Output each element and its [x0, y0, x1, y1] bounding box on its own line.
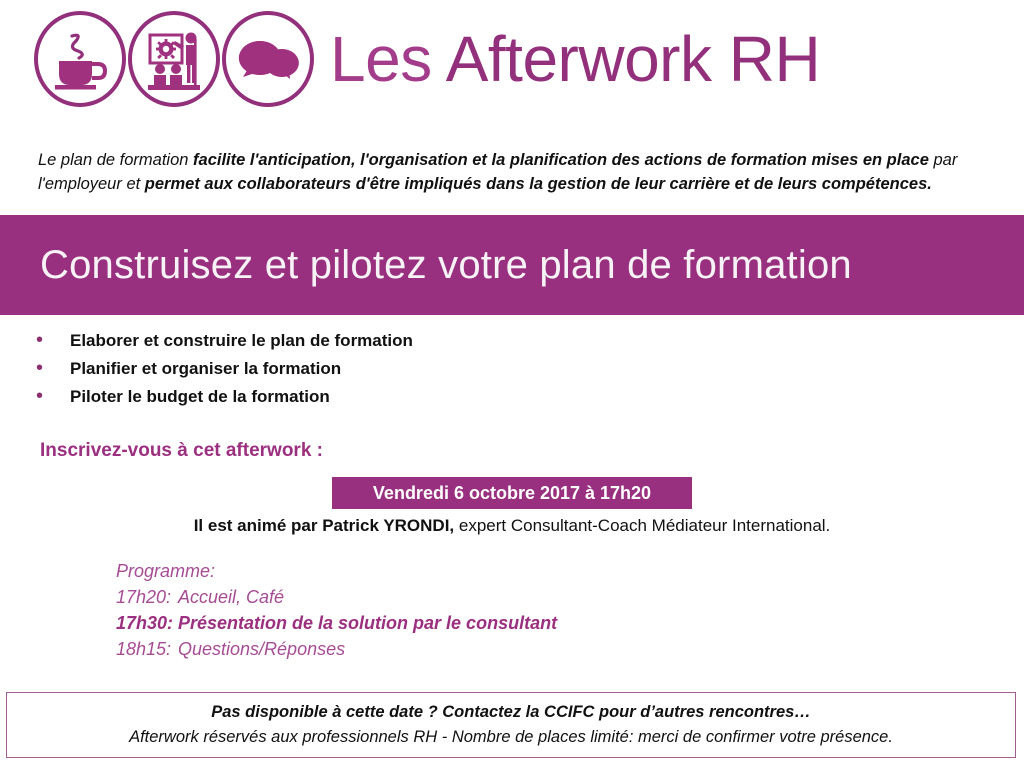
- programme-row: 18h15: Questions/Réponses: [116, 636, 557, 662]
- programme-row: 17h20: Accueil, Café: [116, 584, 557, 610]
- footer-note-line-2: Afterwork réservés aux professionnels RH…: [129, 728, 893, 747]
- intro-text-part1: Le plan de formation: [38, 151, 193, 169]
- speaker-name: Il est animé par Patrick YRONDI,: [194, 516, 454, 535]
- headline-banner: Construisez et pilotez votre plan de for…: [0, 215, 1024, 315]
- intro-text-bold2: permet aux collaborateurs d'être impliqu…: [145, 175, 932, 193]
- intro-paragraph: Le plan de formation facilite l'anticipa…: [38, 148, 1000, 197]
- signup-heading: Inscrivez-vous à cet afterwork :: [40, 440, 323, 462]
- programme-row-time: 17h20:: [116, 584, 178, 610]
- page-header: Les Afterwork RH: [0, 0, 1024, 118]
- programme-block: Programme: 17h20: Accueil, Café 17h30: P…: [116, 558, 557, 662]
- headline-banner-title: Construisez et pilotez votre plan de for…: [40, 243, 852, 288]
- programme-row-time: 18h15:: [116, 636, 178, 662]
- intro-text-bold1: facilite l'anticipation, l'organisation …: [193, 151, 929, 169]
- footer-note-box: Pas disponible à cette date ? Contactez …: [6, 692, 1016, 758]
- bullet-dot-icon: •: [36, 385, 70, 407]
- programme-heading-label: Programme:: [116, 558, 215, 584]
- presentation-training-icon: [124, 9, 224, 109]
- footer-note-line-1: Pas disponible à cette date ? Contactez …: [211, 703, 811, 722]
- list-item: • Elaborer et construire le plan de form…: [36, 329, 413, 357]
- list-item: • Planifier et organiser la formation: [36, 357, 413, 385]
- list-item: • Piloter le budget de la formation: [36, 385, 413, 413]
- event-date-text: Vendredi 6 octobre 2017 à 17h20: [373, 483, 651, 504]
- event-date-badge: Vendredi 6 octobre 2017 à 17h20: [332, 477, 692, 509]
- programme-row: 17h30: Présentation de la solution par l…: [116, 610, 557, 636]
- coffee-cup-icon: [30, 9, 130, 109]
- programme-row-label: Questions/Réponses: [178, 636, 345, 662]
- list-item-label: Planifier et organiser la formation: [70, 357, 341, 381]
- programme-row-label: Présentation de la solution par le consu…: [178, 610, 557, 636]
- list-item-label: Elaborer et construire le plan de format…: [70, 329, 413, 353]
- brand-word-les: Les: [330, 27, 432, 91]
- logo-icon-group: [30, 9, 312, 109]
- speaker-role: expert Consultant-Coach Médiateur Intern…: [454, 516, 830, 535]
- objectives-list: • Elaborer et construire le plan de form…: [36, 329, 413, 413]
- bullet-dot-icon: •: [36, 357, 70, 379]
- bullet-dot-icon: •: [36, 329, 70, 351]
- programme-row-label: Accueil, Café: [178, 584, 284, 610]
- speaker-line: Il est animé par Patrick YRONDI, expert …: [0, 516, 1024, 536]
- list-item-label: Piloter le budget de la formation: [70, 385, 330, 409]
- speech-bubbles-icon: [218, 9, 318, 109]
- programme-row-time: 17h30:: [116, 610, 178, 636]
- brand-word-afterwork-rh: Afterwork RH: [446, 27, 821, 91]
- brand-title: Les Afterwork RH: [330, 27, 820, 91]
- programme-heading: Programme:: [116, 558, 557, 584]
